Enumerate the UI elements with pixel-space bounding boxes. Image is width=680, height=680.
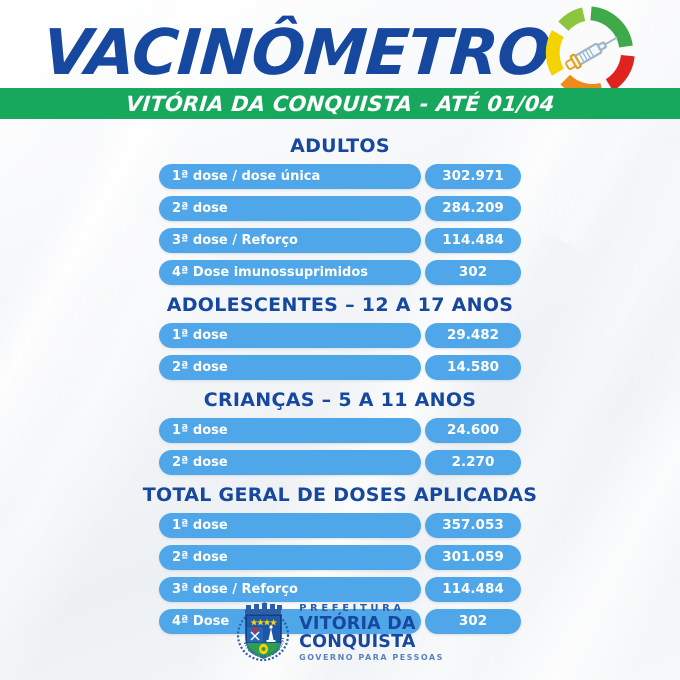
row-value: 29.482: [425, 323, 521, 348]
table-row: 1ª dose357.053: [0, 513, 680, 538]
table-row: 3ª dose / Reforço114.484: [0, 577, 680, 602]
coat-of-arms-icon: VITÓRIA DA CONQUISTA 1840: [236, 602, 290, 664]
brand-tagline: GOVERNO PARA PESSOAS: [299, 654, 444, 662]
row-label: 1ª dose / dose única: [159, 164, 421, 189]
subtitle-band: VITÓRIA DA CONQUISTA - ATÉ 01/04: [0, 88, 680, 119]
row-label: 1ª dose: [159, 513, 421, 538]
table-row: 2ª dose284.209: [0, 196, 680, 221]
section-rows: 1ª dose29.4822ª dose14.580: [0, 323, 680, 380]
section: ADOLESCENTES – 12 A 17 ANOS1ª dose29.482…: [0, 295, 680, 380]
footer-logo: VITÓRIA DA CONQUISTA 1840 PREFEITURA VIT…: [0, 602, 680, 664]
row-value: 14.580: [425, 355, 521, 380]
table-row: 3ª dose / Reforço114.484: [0, 228, 680, 253]
table-row: 1ª dose / dose única302.971: [0, 164, 680, 189]
table-row: 2ª dose14.580: [0, 355, 680, 380]
row-label: 1ª dose: [159, 323, 421, 348]
row-value: 2.270: [425, 450, 521, 475]
row-value: 24.600: [425, 418, 521, 443]
poster-header: VACINÔMETRO: [0, 0, 680, 118]
section: ADULTOS1ª dose / dose única302.9712ª dos…: [0, 136, 680, 285]
table-row: 2ª dose301.059: [0, 545, 680, 570]
section-rows: 1ª dose / dose única302.9712ª dose284.20…: [0, 164, 680, 285]
row-value: 284.209: [425, 196, 521, 221]
page-subtitle: VITÓRIA DA CONQUISTA - ATÉ 01/04: [125, 92, 556, 116]
section-title: ADULTOS: [0, 136, 680, 157]
row-value: 301.059: [425, 545, 521, 570]
row-label: 1ª dose: [159, 418, 421, 443]
row-label: 4ª Dose imunossuprimidos: [159, 260, 421, 285]
page-title: VACINÔMETRO: [41, 21, 552, 84]
table-row: 1ª dose24.600: [0, 418, 680, 443]
section-title: TOTAL GERAL DE DOSES APLICADAS: [0, 485, 680, 506]
table-row: 2ª dose2.270: [0, 450, 680, 475]
row-value: 302: [425, 260, 521, 285]
row-label: 3ª dose / Reforço: [159, 577, 421, 602]
row-value: 114.484: [425, 228, 521, 253]
row-label: 2ª dose: [159, 545, 421, 570]
row-label: 2ª dose: [159, 355, 421, 380]
section-rows: 1ª dose24.6002ª dose2.270: [0, 418, 680, 475]
title-row: VACINÔMETRO: [0, 6, 680, 98]
row-label: 3ª dose / Reforço: [159, 228, 421, 253]
vaccination-infographic: VACINÔMETRO: [0, 0, 680, 680]
section-title: CRIANÇAS – 5 A 11 ANOS: [0, 390, 680, 411]
row-label: 2ª dose: [159, 196, 421, 221]
row-label: 2ª dose: [159, 450, 421, 475]
vaccine-gauge-icon: [545, 6, 637, 98]
row-value: 114.484: [425, 577, 521, 602]
row-value: 302.971: [425, 164, 521, 189]
brand-text: PREFEITURA VITÓRIA DA CONQUISTA GOVERNO …: [299, 604, 444, 663]
brand-city-line1: VITÓRIA DA: [299, 616, 444, 634]
table-row: 1ª dose29.482: [0, 323, 680, 348]
section: CRIANÇAS – 5 A 11 ANOS1ª dose24.6002ª do…: [0, 390, 680, 475]
brand-prefeitura: PREFEITURA: [299, 604, 444, 614]
table-row: 4ª Dose imunossuprimidos302: [0, 260, 680, 285]
brand-city-line2: CONQUISTA: [299, 634, 444, 652]
section-title: ADOLESCENTES – 12 A 17 ANOS: [0, 295, 680, 316]
row-value: 357.053: [425, 513, 521, 538]
sections-container: ADULTOS1ª dose / dose única302.9712ª dos…: [0, 126, 680, 641]
